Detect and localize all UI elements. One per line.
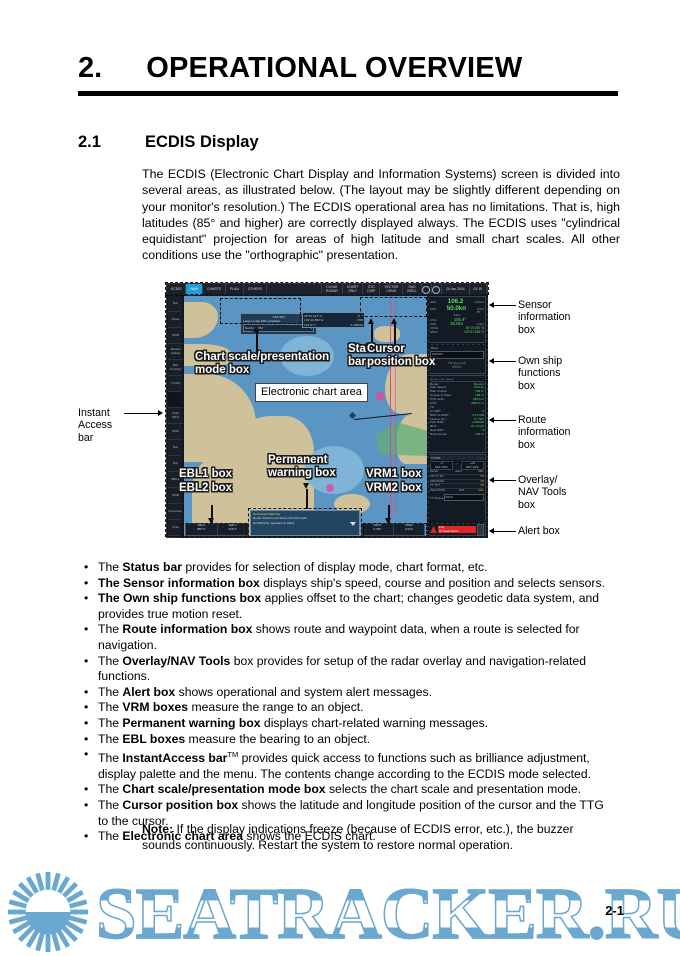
callout-outline-status-bar xyxy=(165,282,489,295)
list-item: •The VRM boxes measure the range to an o… xyxy=(84,700,616,716)
callout-outline-permanent-warning-box xyxy=(248,508,362,538)
arrow-head-cursor-position xyxy=(391,318,397,324)
chapter-rule xyxy=(78,91,618,96)
arrow-head-vrm xyxy=(385,518,391,524)
label-sensor-information-box: Sensor information box xyxy=(518,299,570,336)
landmass xyxy=(184,302,218,338)
list-item: •The Sensor information box displays shi… xyxy=(84,576,616,592)
bullet-icon: • xyxy=(84,700,98,716)
chapter-number: 2. xyxy=(78,52,102,85)
bullet-icon: • xyxy=(84,622,98,653)
list-item-text: The Own ship functions box applies offse… xyxy=(98,591,616,622)
callout-outline-alert-box xyxy=(428,523,488,538)
arrow-to-alert-box xyxy=(494,531,516,532)
bullet-icon: • xyxy=(84,798,98,829)
list-item: •The InstantAccess barTM provides quick … xyxy=(84,747,616,782)
bullet-icon: • xyxy=(84,685,98,701)
ecdis-display-figure: Instant Access bar ECDIS NAVI CHARTS PLA… xyxy=(78,283,623,548)
list-item: •The Chart scale/presentation mode box s… xyxy=(84,782,616,798)
arrow-stem-cursor-position xyxy=(394,323,396,345)
list-item-text: The Overlay/NAV Tools box provides for s… xyxy=(98,654,616,685)
list-item-text: The Alert box shows operational and syst… xyxy=(98,685,616,701)
bullet-icon: • xyxy=(84,782,98,798)
arrow-to-route-box xyxy=(494,420,516,421)
chapter-heading: 2. OPERATIONAL OVERVIEW xyxy=(78,52,618,96)
callout-outline-own-ship-box xyxy=(428,346,488,379)
note-text: If the display indications freeze (becau… xyxy=(142,822,574,852)
callout-vrm2: VRM2 box xyxy=(366,482,422,495)
intro-paragraph: The ECDIS (Electronic Chart Display and … xyxy=(142,166,620,264)
list-item-text: The Status bar provides for selection of… xyxy=(98,560,616,576)
landmass xyxy=(374,326,400,342)
label-instant-access-bar: Instant Access bar xyxy=(78,407,112,444)
bullet-icon: • xyxy=(84,654,98,685)
cursor-brg: 191.5° T xyxy=(304,323,316,327)
bullet-icon: • xyxy=(84,829,98,845)
bullet-icon: • xyxy=(84,747,98,782)
watermark: SEATRACKER.RU 2-1 xyxy=(0,858,680,954)
arrow-head-status-bar xyxy=(368,318,374,324)
feature-bullet-list: •The Status bar provides for selection o… xyxy=(84,560,616,845)
bullet-icon: • xyxy=(84,591,98,622)
list-item: •The Alert box shows operational and sys… xyxy=(84,685,616,701)
callout-outline-ebl-box xyxy=(181,523,247,538)
list-item: •The Status bar provides for selection o… xyxy=(84,560,616,576)
list-item: •The Own ship functions box applies offs… xyxy=(84,591,616,622)
callout-outline-cursor-position-box xyxy=(360,297,427,317)
callout-electronic-chart-area: Electronic chart area xyxy=(255,383,368,402)
chart-symbol xyxy=(326,484,334,492)
arrow-stem-status-bar xyxy=(371,323,373,343)
label-route-information-box: Route information box xyxy=(518,414,570,451)
document-page: 2. OPERATIONAL OVERVIEW 2.1 ECDIS Displa… xyxy=(0,0,680,954)
section-heading: 2.1 ECDIS Display xyxy=(78,133,618,152)
list-item-text: The Permanent warning box displays chart… xyxy=(98,716,616,732)
arrow-head-chart-scale xyxy=(253,326,259,332)
note-label: Note: xyxy=(142,822,173,836)
arrow-to-sensor-box xyxy=(494,305,516,306)
list-item: •The Route information box shows route a… xyxy=(84,622,616,653)
callout-cursor-position: Cursor position box xyxy=(367,343,435,369)
label-own-ship-functions-box: Own ship functions box xyxy=(518,355,562,392)
arrow-stem-chart-scale xyxy=(256,331,258,353)
list-item: •The EBL boxes measure the bearing to an… xyxy=(84,732,616,748)
cursor-rng: 4.188NM xyxy=(350,323,363,327)
callout-outline-instant-access-bar xyxy=(165,295,183,537)
section-number: 2.1 xyxy=(78,133,101,152)
callout-vrm1: VRM1 box xyxy=(366,468,422,481)
arrow-to-nav-tools-box xyxy=(494,480,516,481)
list-item-text: The InstantAccess barTM provides quick a… xyxy=(98,747,616,782)
bullet-icon: • xyxy=(84,576,98,592)
callout-permanent-warning: Permanent warning box xyxy=(268,454,336,480)
callout-chart-scale: Chart scale/presentation mode box xyxy=(195,351,329,377)
bullet-icon: • xyxy=(84,716,98,732)
page-number: 2-1 xyxy=(605,903,624,918)
callout-ebl1: EBL1 box xyxy=(179,468,232,481)
list-item: •The Overlay/NAV Tools box provides for … xyxy=(84,654,616,685)
arrow-stem-permanent-warning xyxy=(306,489,308,509)
cursor-position-box[interactable]: 35°15.147' N1'02 139°46.862' E0'05 191.5… xyxy=(302,312,365,328)
list-item: •The Permanent warning box displays char… xyxy=(84,716,616,732)
callout-outline-route-box xyxy=(428,380,488,461)
list-item-text: The Sensor information box displays ship… xyxy=(98,576,616,592)
bullet-icon: • xyxy=(84,732,98,748)
callout-ebl2: EBL2 box xyxy=(179,482,232,495)
chapter-title: OPERATIONAL OVERVIEW xyxy=(146,52,522,85)
callout-outline-sensor-box xyxy=(428,295,488,345)
callout-outline-vrm-box xyxy=(363,523,427,538)
sun-logo-icon xyxy=(8,872,88,952)
label-overlay-nav-tools-box: Overlay/ NAV Tools box xyxy=(518,474,566,511)
list-item-text: The EBL boxes measure the bearing to an … xyxy=(98,732,616,748)
arrow-to-own-ship-box xyxy=(494,361,516,362)
watermark-text: SEATRACKER.RU xyxy=(96,872,680,956)
list-item-text: The Chart scale/presentation mode box se… xyxy=(98,782,616,798)
section-title: ECDIS Display xyxy=(145,133,259,152)
chart-symbol xyxy=(376,392,385,401)
bullet-icon: • xyxy=(84,560,98,576)
note-paragraph: Note: If the display indications freeze … xyxy=(142,822,612,854)
arrow-head-permanent-warning xyxy=(303,483,309,489)
list-item-text: The Route information box shows route an… xyxy=(98,622,616,653)
callout-outline-chart-scale-box xyxy=(220,298,301,324)
label-alert-box: Alert box xyxy=(518,525,560,537)
arrow-head-ebl xyxy=(208,518,214,524)
callout-outline-nav-tools-box xyxy=(428,462,488,522)
arrow-to-instant-access-bar xyxy=(124,413,158,414)
list-item-text: The VRM boxes measure the range to an ob… xyxy=(98,700,616,716)
